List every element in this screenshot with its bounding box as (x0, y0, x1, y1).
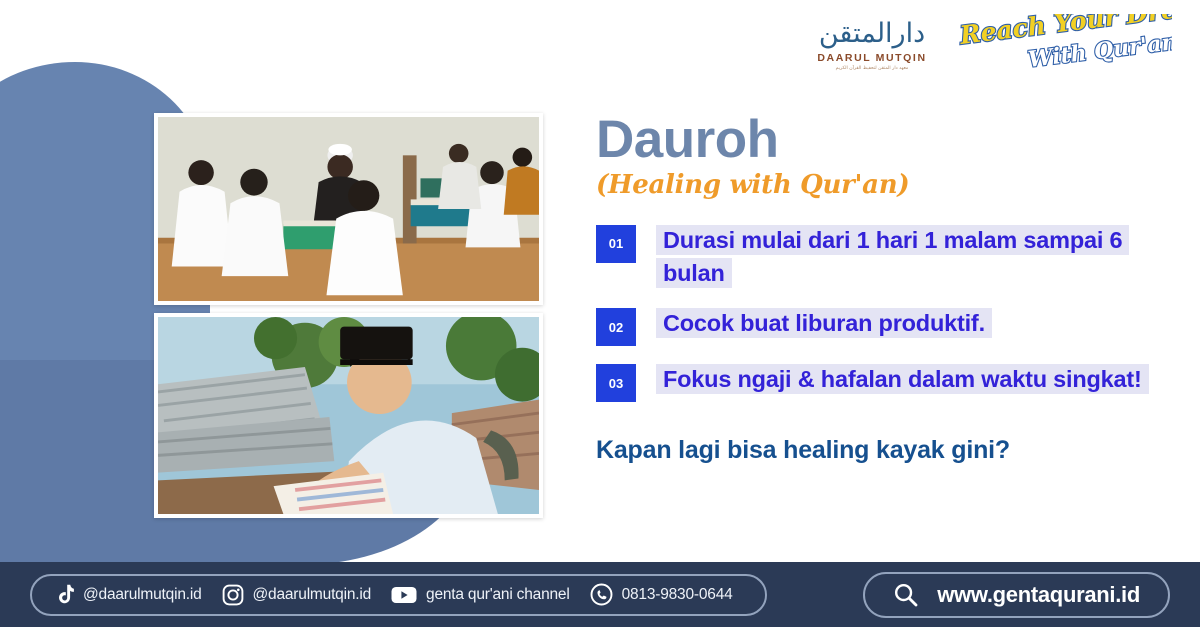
photo-reading-quran (154, 313, 543, 518)
footer-bar: @daarulmutqin.id @daarulmutqin.id genta … (0, 562, 1200, 627)
instagram-icon (222, 584, 244, 606)
feature-text: Durasi mulai dari 1 hari 1 malam sampai … (656, 224, 1168, 291)
list-item: 03 Fokus ngaji & hafalan dalam waktu sin… (596, 363, 1184, 402)
closing-tagline: Kapan lagi bisa healing kayak gini? (596, 436, 1184, 465)
logo-subtitle: معهد دار المتقن لتحفيظ القرآن الكريم (836, 66, 909, 71)
whatsapp-icon (590, 583, 613, 606)
photo-study-circle (154, 113, 543, 305)
website-label: www.gentaqurani.id (937, 582, 1140, 608)
website-pill[interactable]: www.gentaqurani.id (863, 572, 1170, 618)
social-links-pill: @daarulmutqin.id @daarulmutqin.id genta … (30, 574, 767, 616)
social-youtube[interactable]: genta qur'ani channel (391, 585, 580, 605)
logo-name: DAARUL MUTQIN (817, 52, 926, 64)
feature-text: Fokus ngaji & hafalan dalam waktu singka… (656, 363, 1149, 396)
feature-text-highlight: Durasi mulai dari 1 hari 1 malam sampai … (656, 225, 1129, 288)
page-subtitle: (Healing with Qur'an) (596, 170, 1184, 200)
search-icon (893, 582, 919, 608)
feature-text-highlight: Cocok buat liburan produktif. (656, 308, 992, 338)
social-label: @daarulmutqin.id (253, 586, 372, 604)
social-label: genta qur'ani channel (426, 586, 570, 604)
social-tiktok[interactable]: @daarulmutqin.id (54, 584, 212, 606)
feature-text: Cocok buat liburan produktif. (656, 307, 992, 340)
social-label: 0813-9830-0644 (622, 586, 733, 604)
social-instagram[interactable]: @daarulmutqin.id (222, 584, 382, 606)
feature-number-badge: 03 (596, 364, 636, 402)
promo-poster: دارالمتقن DAARUL MUTQIN معهد دار المتقن … (0, 0, 1200, 627)
page-title: Dauroh (596, 112, 1184, 168)
social-whatsapp[interactable]: 0813-9830-0644 (590, 583, 743, 606)
list-item: 01 Durasi mulai dari 1 hari 1 malam samp… (596, 224, 1184, 291)
social-label: @daarulmutqin.id (83, 586, 202, 604)
list-item: 02 Cocok buat liburan produktif. (596, 307, 1184, 346)
main-content: Dauroh (Healing with Qur'an) 01 Durasi m… (596, 112, 1184, 465)
youtube-icon (391, 585, 417, 605)
brand-header: دارالمتقن DAARUL MUTQIN معهد دار المتقن … (817, 14, 1172, 76)
tagline-script-art: Reach Your Dreams With Qur'an (957, 14, 1172, 76)
feature-number-badge: 01 (596, 225, 636, 263)
tiktok-icon (54, 584, 74, 606)
feature-text-highlight: Fokus ngaji & hafalan dalam waktu singka… (656, 364, 1149, 394)
daarul-mutqin-logo: دارالمتقن DAARUL MUTQIN معهد دار المتقن … (817, 20, 927, 71)
feature-number-badge: 02 (596, 308, 636, 346)
logo-arabic-icon: دارالمتقن (819, 20, 925, 47)
feature-list: 01 Durasi mulai dari 1 hari 1 malam samp… (596, 224, 1184, 403)
